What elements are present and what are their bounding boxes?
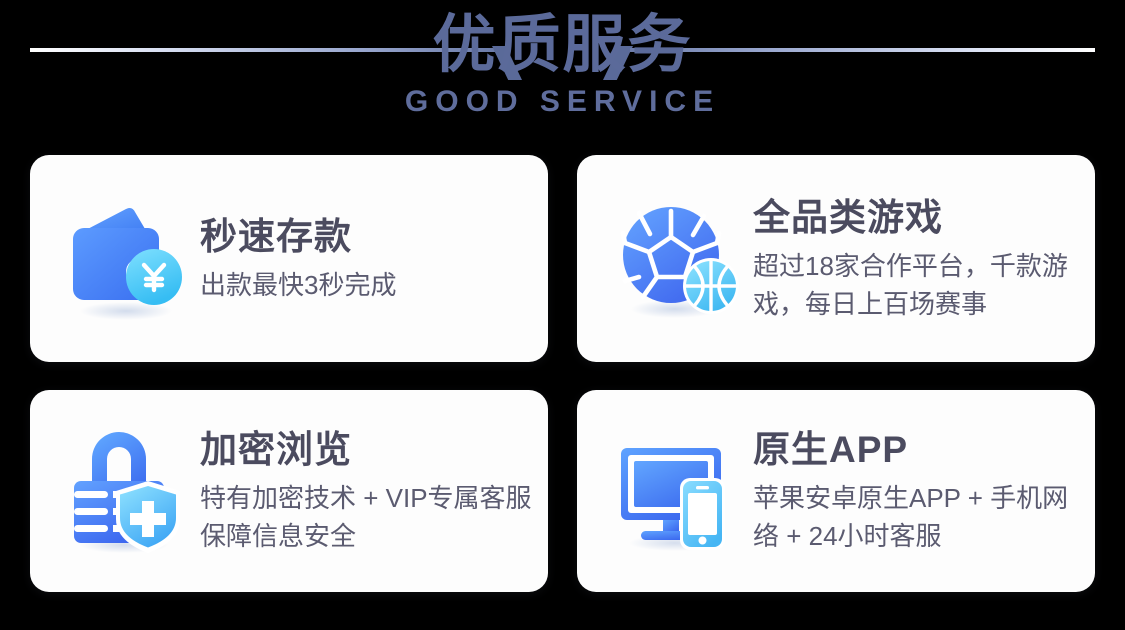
card-description: 苹果安卓原生APP + 手机网络 + 24小时客服 (753, 473, 1083, 555)
card-title: 加密浏览 (200, 427, 540, 473)
wallet-yen-icon (56, 189, 196, 329)
feature-card-native-app[interactable]: 原生APP 苹果安卓原生APP + 手机网络 + 24小时客服 (577, 390, 1095, 592)
card-text-block: 秒速存款 出款最快3秒完成 (196, 214, 540, 304)
card-title: 全品类游戏 (753, 195, 1087, 241)
feature-card-deposit[interactable]: 秒速存款 出款最快3秒完成 (30, 155, 548, 362)
soccer-basketball-icon (609, 189, 749, 329)
feature-card-encryption[interactable]: 加密浏览 特有加密技术 + VIP专属客服保障信息安全 (30, 390, 548, 592)
page-subtitle: GOOD SERVICE (0, 82, 1125, 119)
feature-card-grid: 秒速存款 出款最快3秒完成 (30, 155, 1095, 592)
feature-card-games[interactable]: 全品类游戏 超过18家合作平台，千款游戏，每日上百场赛事 (577, 155, 1095, 362)
card-title: 原生APP (753, 427, 1087, 473)
card-description: 出款最快3秒完成 (200, 260, 540, 304)
page-header: 优质服务 GOOD SERVICE (0, 0, 1125, 150)
card-text-block: 全品类游戏 超过18家合作平台，千款游戏，每日上百场赛事 (749, 195, 1087, 323)
monitor-phone-icon (609, 421, 749, 561)
card-text-block: 加密浏览 特有加密技术 + VIP专属客服保障信息安全 (196, 427, 540, 555)
lock-shield-icon (56, 421, 196, 561)
card-title: 秒速存款 (200, 214, 540, 260)
page-title: 优质服务 (0, 0, 1125, 82)
header-title-block: 优质服务 GOOD SERVICE (0, 0, 1125, 119)
card-text-block: 原生APP 苹果安卓原生APP + 手机网络 + 24小时客服 (749, 427, 1087, 555)
card-description: 特有加密技术 + VIP专属客服保障信息安全 (200, 473, 540, 555)
card-description: 超过18家合作平台，千款游戏，每日上百场赛事 (753, 241, 1083, 323)
